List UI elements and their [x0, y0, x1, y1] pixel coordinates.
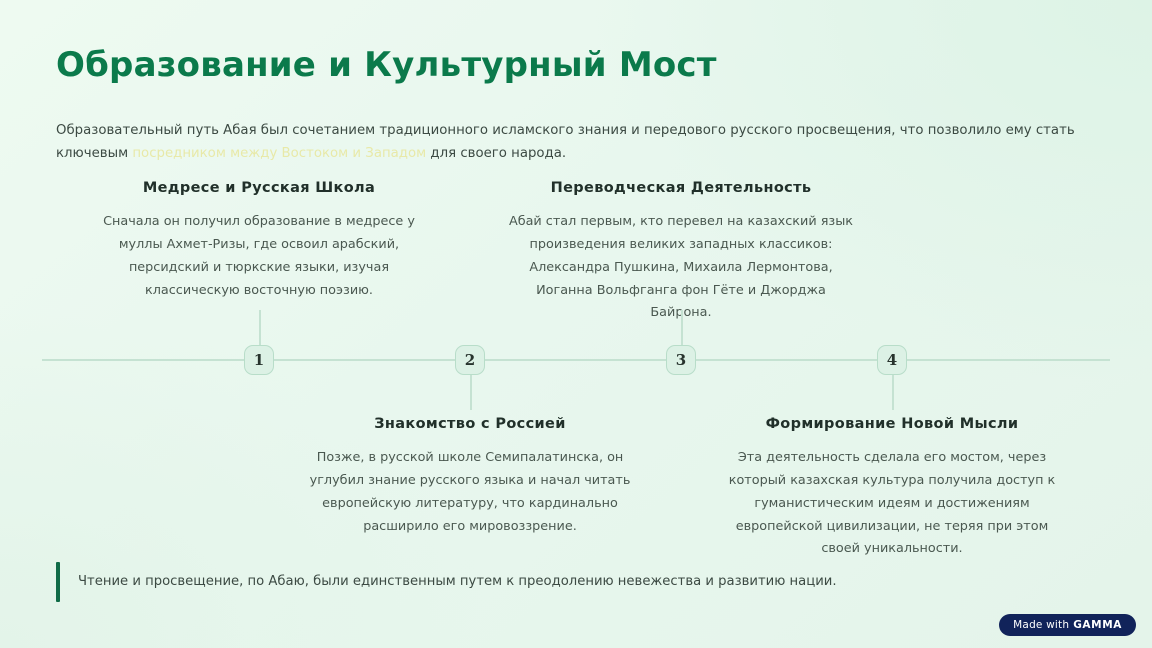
slide-root: Образование и Культурный Мост Образовате…: [0, 0, 1152, 648]
timeline-node-3[interactable]: 3: [666, 345, 696, 375]
timeline-card-2-body: Позже, в русской школе Семипалатинска, о…: [294, 447, 646, 538]
timeline-card-2: Знакомство с Россией Позже, в русской шк…: [294, 416, 646, 538]
timeline-axis: [42, 359, 1110, 361]
timeline-card-2-title: Знакомство с Россией: [294, 416, 646, 433]
connector-3: [681, 310, 683, 348]
connector-2: [470, 372, 472, 410]
timeline-card-1: Медресе и Русская Школа Сначала он получ…: [83, 180, 435, 302]
made-with-gamma-badge[interactable]: Made with GAMMA: [999, 614, 1136, 636]
gamma-badge-prefix: Made with: [1013, 619, 1069, 631]
timeline-node-2-number: 2: [465, 351, 475, 369]
timeline-node-1-number: 1: [254, 351, 264, 369]
timeline-card-3-title: Переводческая Деятельность: [505, 180, 857, 197]
page-title: Образование и Культурный Мост: [56, 46, 717, 85]
footer-quote: Чтение и просвещение, по Абаю, были един…: [56, 562, 837, 602]
timeline-node-3-number: 3: [676, 351, 686, 369]
quote-accent-bar: [56, 562, 60, 602]
timeline-card-4: Формирование Новой Мысли Эта деятельност…: [716, 416, 1068, 561]
intro-highlight: посредником между Востоком и Западом: [132, 146, 426, 161]
connector-4: [892, 372, 894, 410]
timeline-card-1-body: Сначала он получил образование в медресе…: [83, 211, 435, 302]
timeline-node-4[interactable]: 4: [877, 345, 907, 375]
connector-1: [259, 310, 261, 348]
timeline-card-3: Переводческая Деятельность Абай стал пер…: [505, 180, 857, 325]
timeline-card-3-body: Абай стал первым, кто перевел на казахск…: [505, 211, 857, 325]
timeline-node-1[interactable]: 1: [244, 345, 274, 375]
quote-text: Чтение и просвещение, по Абаю, были един…: [78, 571, 837, 592]
timeline-card-4-body: Эта деятельность сделала его мостом, чер…: [716, 447, 1068, 561]
timeline-card-4-title: Формирование Новой Мысли: [716, 416, 1068, 433]
timeline-node-2[interactable]: 2: [455, 345, 485, 375]
intro-paragraph: Образовательный путь Абая был сочетанием…: [56, 120, 1096, 166]
intro-text-after: для своего народа.: [426, 146, 566, 161]
timeline-node-4-number: 4: [887, 351, 897, 369]
gamma-badge-brand: GAMMA: [1073, 619, 1122, 631]
timeline-card-1-title: Медресе и Русская Школа: [83, 180, 435, 197]
